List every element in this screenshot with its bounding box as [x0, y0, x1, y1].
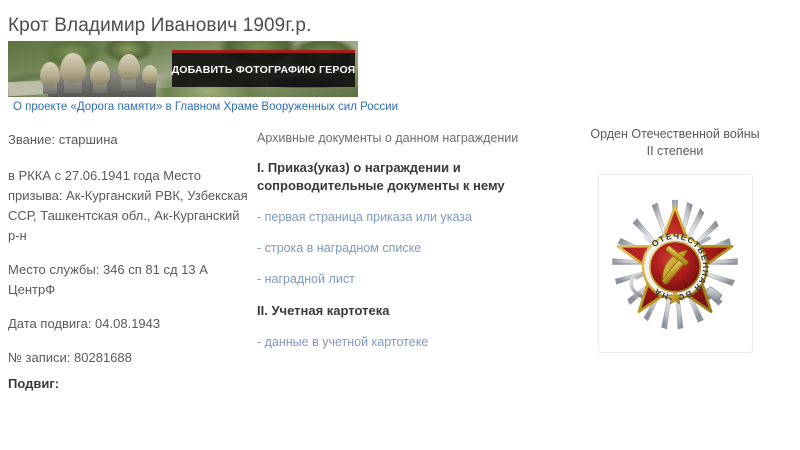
person-details-column: Звание: старшина в РККА с 27.06.1941 год…	[8, 130, 248, 382]
document-link-award-sheet[interactable]: - наградной лист	[257, 271, 567, 287]
person-place-of-service: Место службы: 346 сп 81 сд 13 А ЦентрФ	[8, 260, 248, 300]
add-hero-photo-button[interactable]: ДОБАВИТЬ ФОТОГРАФИЮ ГЕРОЯ	[172, 50, 355, 87]
cathedral-dome	[90, 61, 110, 85]
document-link-registration-card[interactable]: - данные в учетной картотеке	[257, 334, 567, 350]
archive-section-2-heading: II. Учетная картотека	[257, 302, 567, 320]
page-title: Крот Владимир Иванович 1909г.р.	[8, 15, 311, 37]
archive-documents-caption: Архивные документы о данном награждении	[257, 130, 567, 147]
cathedral-dome	[40, 62, 60, 86]
document-link-order-first-page[interactable]: - первая страница приказа или указа	[257, 209, 567, 225]
podvig-section-label: Подвиг:	[8, 376, 59, 391]
person-rank: Звание: старшина	[8, 130, 248, 150]
add-hero-photo-label: ДОБАВИТЬ ФОТОГРАФИЮ ГЕРОЯ	[172, 64, 356, 76]
archive-documents-column: Архивные документы о данном награждении …	[257, 130, 567, 365]
cathedral-dome	[60, 53, 86, 83]
order-of-patriotic-war-icon: ОТЕЧЕСТВЕННАЯ ВОЙНА	[607, 196, 743, 332]
person-feat-date: Дата подвига: 04.08.1943	[8, 314, 248, 334]
cathedral-illustration	[38, 49, 168, 97]
project-info-link[interactable]: О проекте «Дорога памяти» в Главном Храм…	[13, 101, 398, 113]
person-service-record: в РККА с 27.06.1941 года Место призыва: …	[8, 166, 248, 246]
award-title-line-2: II степени	[647, 144, 704, 158]
award-title-line-1: Орден Отечественной войны	[590, 127, 759, 141]
award-image-box: ОТЕЧЕСТВЕННАЯ ВОЙНА	[598, 174, 753, 353]
record-number: № записи: 80281688	[8, 348, 248, 368]
award-column: Орден Отечественной войны II степени	[560, 126, 790, 353]
archive-section-1-heading: I. Приказ(указ) о награждении и сопровод…	[257, 159, 567, 195]
cathedral-dome	[118, 54, 140, 80]
memorial-banner-image: ДОБАВИТЬ ФОТОГРАФИЮ ГЕРОЯ	[8, 41, 358, 97]
award-title: Орден Отечественной войны II степени	[560, 126, 790, 160]
document-link-award-list-row[interactable]: - строка в наградном списке	[257, 240, 567, 256]
cathedral-dome	[142, 65, 158, 84]
